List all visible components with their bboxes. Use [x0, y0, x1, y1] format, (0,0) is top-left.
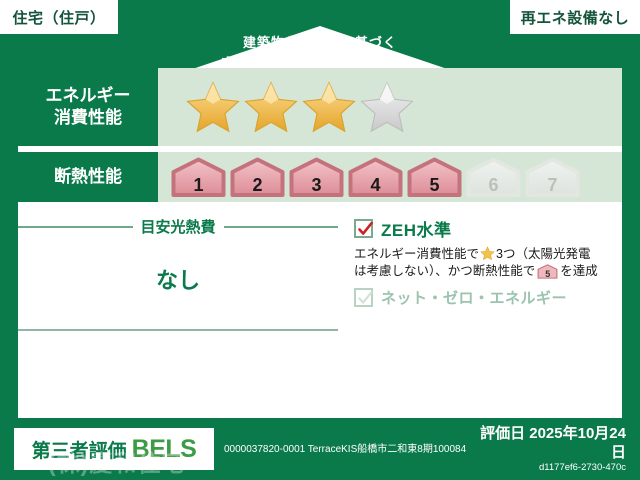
insulation-grade-4: 4 — [347, 157, 404, 197]
energy-cost-heading-label: 目安光熱費 — [141, 216, 216, 237]
rule-right-icon — [224, 226, 339, 228]
star-empty-icon — [360, 80, 414, 134]
insulation-grade-6: 6 — [465, 157, 522, 197]
evaluation-date: 評価日 2025年10月24日 — [474, 424, 626, 462]
building-type-tag-label: 住宅（住戸） — [12, 7, 105, 28]
insulation-performance-label-text: 断熱性能 — [54, 166, 122, 188]
zeh-description: エネルギー消費性能で 3つ（太陽光発電 は考慮しない）、かつ断熱性能で 5 を達… — [354, 246, 622, 280]
star-filled-icon — [302, 80, 356, 134]
renewable-equipment-tag: 再エネ設備なし — [510, 0, 640, 34]
rule-left-icon — [18, 226, 133, 228]
insulation-grade-3: 3 — [288, 157, 345, 197]
zeh-desc-part3: を達成 — [560, 264, 598, 278]
renewable-equipment-tag-label: 再エネ設備なし — [521, 7, 630, 28]
zeh-checkbox[interactable] — [354, 219, 373, 238]
insulation-grade-number: 3 — [288, 176, 345, 194]
label-footer: 第三者評価 BELS 0000037820-0001 TerraceKIS船橋市… — [0, 418, 640, 480]
net-zero-energy-checkbox[interactable] — [354, 288, 373, 307]
bels-logo-en: BELS — [132, 435, 197, 464]
insulation-performance-row: 断熱性能 1234567 — [18, 152, 622, 202]
energy-performance-value — [158, 68, 622, 146]
star-rating — [186, 80, 414, 134]
zeh-title: ZEH水準 — [381, 216, 452, 241]
insulation-grade-number: 2 — [229, 176, 286, 194]
label-subtitle: 建築物省エネ法に基づく — [0, 34, 640, 52]
energy-cost-divider — [18, 329, 338, 331]
check-icon-faded — [357, 290, 374, 307]
energy-cost-value: なし — [18, 237, 338, 325]
evaluation-date-block: 評価日 2025年10月24日 d1177ef6-2730-470c — [474, 424, 626, 474]
energy-performance-label-line1: エネルギー — [46, 85, 131, 107]
zeh-heading: ZEH水準 — [354, 216, 622, 241]
zeh-desc-part2: は考慮しない）、かつ断熱性能で — [354, 264, 535, 278]
lower-section: 目安光熱費 なし ZEH水準 エネルギー消費性能で — [18, 210, 622, 331]
insulation-performance-label: 断熱性能 — [18, 152, 158, 202]
energy-performance-label-line2: 消費性能 — [54, 107, 122, 129]
net-zero-energy-row: ネット・ゼロ・エネルギー — [354, 287, 622, 308]
insulation-grade-1: 1 — [170, 157, 227, 197]
insulation-grade-inline-icon: 5 — [537, 264, 558, 279]
building-type-tag: 住宅（住戸） — [0, 0, 118, 34]
energy-cost-panel: 目安光熱費 なし — [18, 210, 348, 331]
check-icon — [357, 221, 374, 238]
insulation-grade-scale: 1234567 — [170, 157, 581, 197]
insulation-grade-inline-number: 5 — [537, 269, 558, 279]
zeh-desc-part1: エネルギー消費性能で — [354, 247, 479, 261]
energy-cost-heading: 目安光熱費 — [18, 216, 338, 237]
insulation-grade-number: 5 — [406, 176, 463, 194]
energy-label-root: 住宅（住戸） 再エネ設備なし 建築物省エネ法に基づく 省エネ性能ラベル エネルギ… — [0, 0, 640, 480]
star-filled-icon — [244, 80, 298, 134]
insulation-grade-number: 4 — [347, 176, 404, 194]
insulation-grade-7: 7 — [524, 157, 581, 197]
net-zero-energy-label: ネット・ゼロ・エネルギー — [381, 287, 567, 308]
zeh-panel: ZEH水準 エネルギー消費性能で 3つ（太陽光発電 は考慮しない）、かつ断熱性能… — [348, 210, 622, 331]
bels-logo-jp: 第三者評価 — [32, 436, 127, 463]
energy-performance-row: エネルギー 消費性能 — [18, 68, 622, 146]
star-icon — [480, 246, 495, 261]
energy-performance-label: エネルギー 消費性能 — [18, 68, 158, 146]
insulation-grade-5: 5 — [406, 157, 463, 197]
insulation-grade-2: 2 — [229, 157, 286, 197]
certificate-id: 0000037820-0001 TerraceKIS船橋市二和東8期100084 — [224, 443, 474, 456]
insulation-performance-value: 1234567 — [158, 152, 622, 202]
insulation-grade-number: 7 — [524, 176, 581, 194]
insulation-grade-number: 6 — [465, 176, 522, 194]
insulation-grade-number: 1 — [170, 176, 227, 194]
zeh-desc-star-count: 3つ（太陽光発電 — [496, 247, 590, 261]
document-uuid: d1177ef6-2730-470c — [474, 462, 626, 474]
star-filled-icon — [186, 80, 240, 134]
bels-logo: 第三者評価 BELS — [14, 428, 214, 470]
